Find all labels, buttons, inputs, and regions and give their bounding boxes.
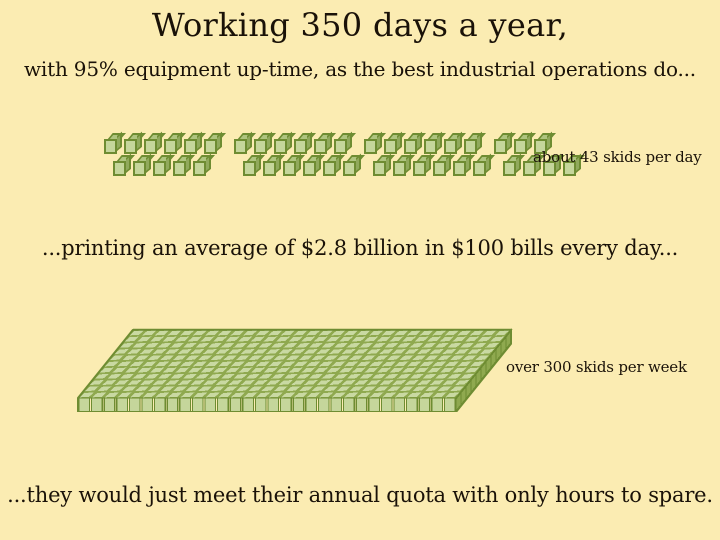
skid-cube-icon	[254, 133, 274, 157]
skid-cube-icon	[433, 155, 453, 179]
skid-cube-icon	[263, 155, 283, 179]
skid-cube-icon	[133, 155, 153, 179]
skid-cube-icon	[303, 155, 323, 179]
skid-cube-icon	[364, 133, 384, 157]
skid-cube-icon	[444, 133, 464, 157]
skid-cube-row	[373, 155, 493, 179]
skid-cube-icon	[514, 133, 534, 157]
skid-cube-row	[234, 133, 354, 157]
skid-cube-icon	[413, 155, 433, 179]
skid-cube-icon	[164, 133, 184, 157]
skid-cube-icon	[274, 133, 294, 157]
skid-cube-icon	[453, 155, 473, 179]
pallet-slab-svg	[70, 312, 530, 412]
skid-cube-icon	[323, 155, 343, 179]
skid-cube-icon	[104, 133, 124, 157]
skid-cube-row	[243, 155, 363, 179]
skid-cube-icon	[424, 133, 444, 157]
page-subtitle: with 95% equipment up-time, as the best …	[0, 56, 720, 82]
skid-cube-icon	[184, 133, 204, 157]
skid-cube-icon	[343, 155, 363, 179]
skid-cube-icon	[144, 133, 164, 157]
skid-cube-row	[113, 155, 213, 179]
bottom-caption: ...they would just meet their annual quo…	[0, 481, 720, 509]
skid-cube-icon	[494, 133, 514, 157]
skid-cube-icon	[393, 155, 413, 179]
skid-cube-icon	[294, 133, 314, 157]
skid-cube-icon	[373, 155, 393, 179]
slide-canvas: Working 350 days a year, with 95% equipm…	[0, 0, 720, 540]
skid-cube-row	[364, 133, 484, 157]
daily-skid-pictogram	[104, 133, 534, 185]
skid-cube-icon	[384, 133, 404, 157]
skid-cube-icon	[234, 133, 254, 157]
skid-cube-icon	[113, 155, 133, 179]
skid-cube-icon	[314, 133, 334, 157]
weekly-skid-slab	[70, 312, 530, 412]
skid-cube-icon	[404, 133, 424, 157]
skid-cube-icon	[204, 133, 224, 157]
skid-cube-icon	[193, 155, 213, 179]
page-title: Working 350 days a year,	[0, 6, 720, 44]
skid-cube-icon	[124, 133, 144, 157]
skid-cube-icon	[173, 155, 193, 179]
skid-cube-icon	[153, 155, 173, 179]
skid-cube-icon	[473, 155, 493, 179]
skid-cube-row	[104, 133, 224, 157]
daily-skid-label: about 43 skids per day	[533, 147, 702, 167]
skid-cube-icon	[243, 155, 263, 179]
skid-cube-icon	[464, 133, 484, 157]
middle-caption: ...printing an average of $2.8 billion i…	[0, 234, 720, 262]
skid-cube-icon	[334, 133, 354, 157]
skid-cube-icon	[283, 155, 303, 179]
weekly-skid-label: over 300 skids per week	[506, 357, 687, 377]
skid-cube-icon	[503, 155, 523, 179]
